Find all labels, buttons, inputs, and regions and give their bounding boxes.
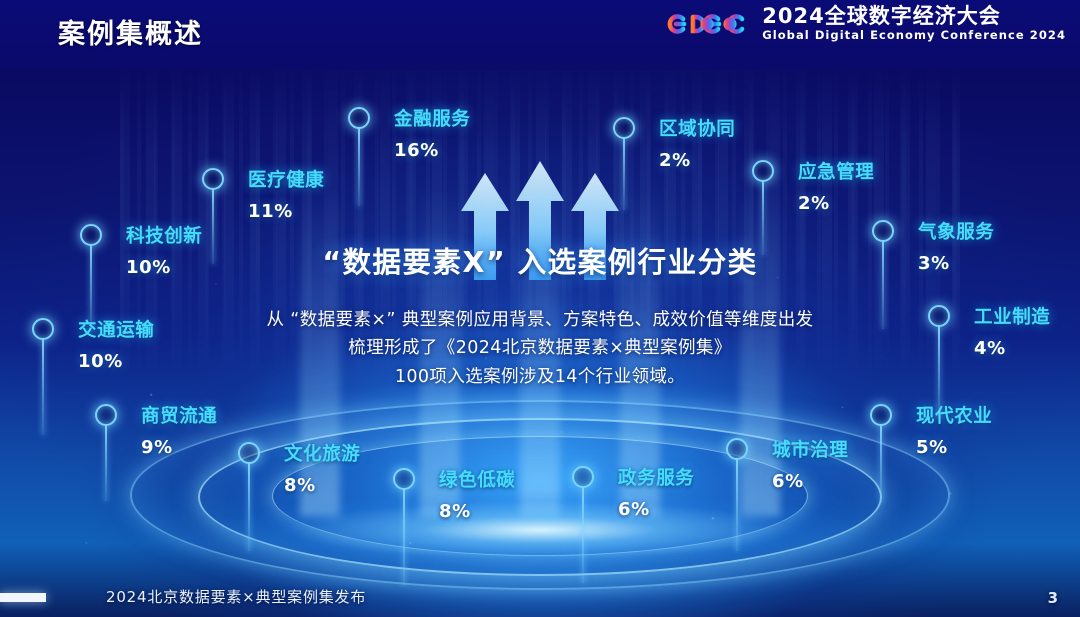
pin-ring-icon [32,318,54,340]
industry-percentage: 10% [126,257,202,278]
pin-ring-icon [726,438,748,460]
pin-text-group: 科技创新10% [126,222,202,278]
pin-text-group: 绿色低碳8% [439,466,515,522]
pin-text-group: 区域协同2% [659,115,735,171]
industry-percentage: 10% [78,351,154,372]
description-line-3: 100项入选案例涉及14个行业领域。 [230,363,850,391]
industry-label: 交通运输 [78,316,154,342]
pin-ring-icon [348,107,370,129]
industry-label: 气象服务 [918,218,994,244]
pin-stem [248,463,250,551]
pin-marker [726,438,748,460]
industry-percentage: 6% [772,471,848,492]
pin-stem [582,487,584,583]
pin-ring-icon [202,168,224,190]
industry-label: 现代农业 [916,402,992,428]
pin-stem [736,459,738,551]
pin-marker [393,468,415,490]
pin-text-group: 气象服务3% [918,218,994,274]
industry-label: 应急管理 [798,158,874,184]
industry-percentage: 16% [394,140,470,161]
industry-label: 商贸流通 [141,402,217,428]
industry-label: 医疗健康 [248,166,324,192]
industry-percentage: 11% [248,201,324,222]
industry-percentage: 3% [918,253,994,274]
pin-text-group: 商贸流通9% [141,402,217,458]
industry-percentage: 6% [618,499,694,520]
pin-text-group: 文化旅游8% [284,440,360,496]
industry-label: 绿色低碳 [439,466,515,492]
footer-caption: 2024北京数据要素×典型案例集发布 [106,586,366,607]
pin-text-group: 交通运输10% [78,316,154,372]
description-block: 从 “数据要素×” 典型案例应用背景、方案特色、成效价值等维度出发 梳理形成了《… [230,306,850,391]
brand-title-en: Global Digital Economy Conference 2024 [762,29,1066,43]
industry-percentage: 2% [659,150,735,171]
pin-ring-icon [95,404,117,426]
chart-heading: “数据要素X” 入选案例行业分类 [230,240,850,281]
pin-stem [938,326,940,418]
pin-marker [32,318,54,340]
pin-stem [358,128,360,206]
pin-stem [880,425,882,503]
pin-text-group: 城市治理6% [772,436,848,492]
industry-label: 区域协同 [659,115,735,141]
pin-stem [42,339,44,435]
pin-stem [762,181,764,255]
pin-marker [928,305,950,327]
industry-percentage: 2% [798,193,874,214]
pin-marker [202,168,224,190]
pin-marker [348,107,370,129]
pin-marker [872,220,894,242]
center-content-block: “数据要素X” 入选案例行业分类 从 “数据要素×” 典型案例应用背景、方案特色… [230,240,850,391]
pin-stem [105,425,107,501]
pin-marker [95,404,117,426]
pin-stem [623,138,625,210]
presentation-slide: 案例集概述 [0,0,1080,617]
pin-marker [870,404,892,426]
industry-label: 文化旅游 [284,440,360,466]
pin-stem [403,489,405,585]
industry-percentage: 8% [284,475,360,496]
pin-text-group: 医疗健康11% [248,166,324,222]
footer-accent-bar [0,593,46,602]
pin-ring-icon [572,466,594,488]
pin-text-group: 金融服务16% [394,105,470,161]
pin-text-group: 应急管理2% [798,158,874,214]
page-number: 3 [1048,589,1058,607]
pin-text-group: 政务服务6% [618,464,694,520]
pin-marker [572,466,594,488]
pin-marker [238,442,260,464]
pin-ring-icon [872,220,894,242]
industry-label: 工业制造 [974,303,1050,329]
pin-ring-icon [752,160,774,182]
pin-ring-icon [928,305,950,327]
industry-percentage: 8% [439,501,515,522]
pin-text-group: 工业制造4% [974,303,1050,359]
pin-ring-icon [393,468,415,490]
industry-percentage: 5% [916,437,992,458]
industry-label: 金融服务 [394,105,470,131]
industry-percentage: 9% [141,437,217,458]
conference-branding: 2024全球数字经济大会 Global Digital Economy Conf… [666,5,1066,42]
pin-marker [752,160,774,182]
slide-header: 案例集概述 [0,0,1080,70]
description-line-2: 梳理形成了《2024北京数据要素×典型案例集》 [230,334,850,362]
pin-marker [613,117,635,139]
industry-label: 科技创新 [126,222,202,248]
page-title: 案例集概述 [58,12,203,51]
pin-ring-icon [238,442,260,464]
pin-text-group: 现代农业5% [916,402,992,458]
gdec-logo-icon [666,9,752,39]
pin-ring-icon [80,224,102,246]
pin-marker [80,224,102,246]
brand-title-cn: 2024全球数字经济大会 [762,5,1000,29]
industry-label: 城市治理 [772,436,848,462]
slide-footer: 2024北京数据要素×典型案例集发布 3 [0,573,1080,617]
industry-percentage: 4% [974,338,1050,359]
industry-label: 政务服务 [618,464,694,490]
pin-ring-icon [870,404,892,426]
description-line-1: 从 “数据要素×” 典型案例应用背景、方案特色、成效价值等维度出发 [230,306,850,334]
pin-stem [212,189,214,264]
pin-ring-icon [613,117,635,139]
pin-stem [882,241,884,329]
